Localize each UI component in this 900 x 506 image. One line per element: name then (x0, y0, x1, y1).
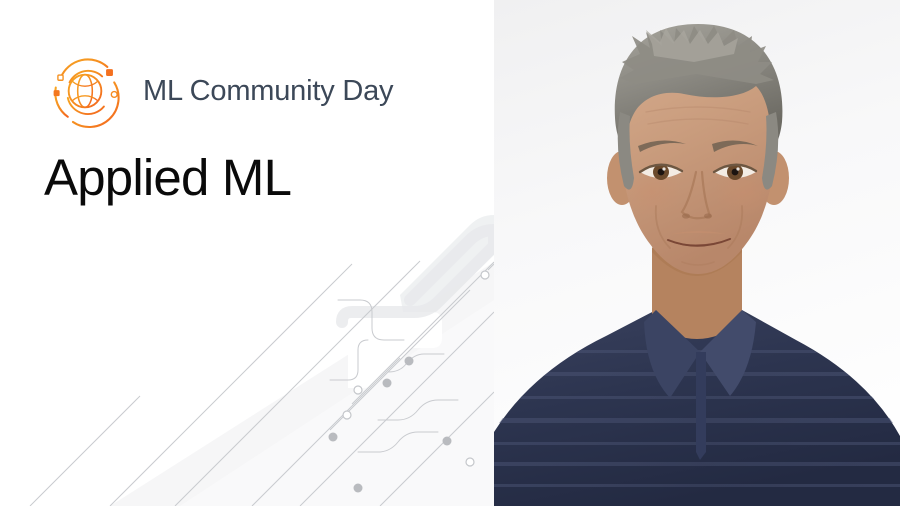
node-ring (481, 271, 489, 279)
node-dot (354, 484, 363, 493)
diagonal-wedge-shape-2 (180, 300, 494, 506)
trace-slab-group (348, 215, 494, 388)
node-ring (354, 386, 362, 394)
diagonal-wedge-shape (110, 262, 494, 506)
trace-slab-outline (342, 230, 494, 322)
circuit-nodes-filled (329, 357, 452, 493)
left-content-panel: ML Community Day Applied ML (0, 0, 494, 506)
circuit-nodes-hollow (343, 271, 489, 466)
orbit-node-circle (111, 92, 117, 98)
page-title: Applied ML (44, 150, 291, 205)
node-dot (443, 437, 452, 446)
brand-lockup: ML Community Day (42, 48, 393, 134)
shirt-placket (696, 352, 706, 460)
speaker-photo-image (494, 0, 900, 506)
presentation-slide: ML Community Day Applied ML (0, 0, 900, 506)
orbit-node-square (54, 90, 60, 96)
circuit-curves (330, 300, 458, 452)
globe-orbit-icon (42, 48, 128, 134)
orbit-node-square (106, 69, 113, 76)
circuit-lines (30, 261, 494, 506)
node-ring (343, 411, 351, 419)
node-dot (405, 357, 414, 366)
brand-name: ML Community Day (143, 75, 393, 108)
speaker-photo (494, 0, 900, 506)
node-dot (329, 433, 338, 442)
orbit-node-square-hollow (58, 75, 63, 80)
portrait-illustration (494, 0, 900, 506)
node-dot (383, 379, 392, 388)
node-ring (466, 458, 474, 466)
